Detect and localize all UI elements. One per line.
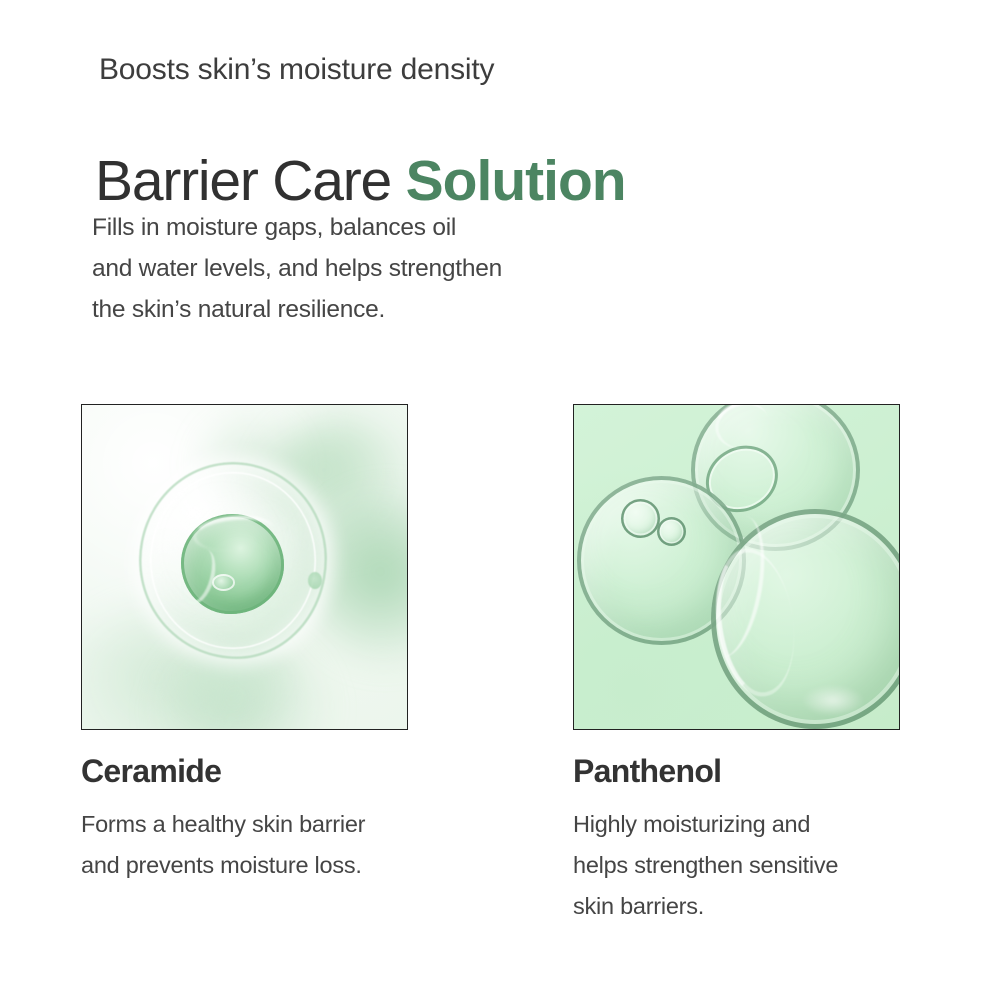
product-detail-page: Boosts skin’s moisture density Barrier C… [0, 0, 1000, 1000]
bubble-speck [308, 572, 322, 589]
panthenol-bubble-artwork [574, 405, 899, 729]
ingredient-card-panthenol: Panthenol Highly moisturizing and helps … [573, 404, 900, 927]
inner-green-sphere [181, 514, 283, 614]
small-bubble [657, 517, 686, 546]
page-title: Barrier Care Solution [95, 146, 626, 216]
page-title-main: Barrier Care [95, 149, 406, 213]
ceramide-image [81, 404, 408, 730]
intro-line: Fills in moisture gaps, balances oil [92, 207, 502, 248]
intro-line: the skin’s natural resilience. [92, 289, 502, 330]
small-bubble [621, 499, 660, 538]
panthenol-image [573, 404, 900, 730]
ingredient-name: Panthenol [573, 752, 900, 790]
intro-paragraph: Fills in moisture gaps, balances oil and… [92, 207, 502, 330]
ingredient-description-line: Highly moisturizing and [573, 804, 900, 845]
sphere-micro-bubble [212, 574, 236, 591]
ingredient-description-line: skin barriers. [573, 886, 900, 927]
ingredient-description: Highly moisturizing and helps strengthen… [573, 804, 900, 927]
eyebrow-text: Boosts skin’s moisture density [99, 51, 494, 89]
ingredient-name: Ceramide [81, 752, 408, 790]
ingredient-description-line: helps strengthen sensitive [573, 845, 900, 886]
intro-line: and water levels, and helps strengthen [92, 248, 502, 289]
ingredient-description-line: and prevents moisture loss. [81, 845, 408, 886]
ingredient-description-line: Forms a healthy skin barrier [81, 804, 408, 845]
page-title-accent: Solution [406, 149, 626, 213]
ceramide-bubble-artwork [82, 405, 407, 729]
ingredient-description: Forms a healthy skin barrier and prevent… [81, 804, 408, 886]
ingredient-card-ceramide: Ceramide Forms a healthy skin barrier an… [81, 404, 408, 886]
